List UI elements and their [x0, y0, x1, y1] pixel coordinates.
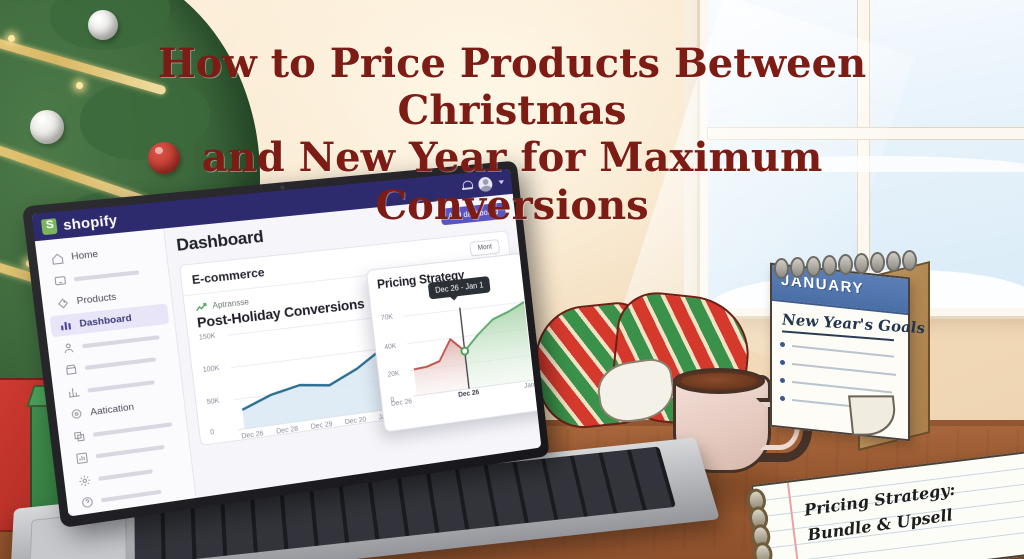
- sidebar-placeholder-bar: [95, 445, 164, 458]
- laptop: shopify Home: [16, 182, 716, 559]
- customers-icon: [61, 340, 75, 354]
- calendar-ring: [790, 257, 805, 278]
- y-tick-0: 0: [210, 429, 215, 437]
- dashboard-icon: [59, 318, 73, 332]
- calendar-page: JANUARY New Year's Goals: [770, 263, 910, 442]
- calendar-ring: [774, 258, 789, 279]
- discounts-icon: [72, 429, 86, 443]
- app-body: Home Products: [35, 194, 542, 517]
- main-content: Dashboard Add dashboard E-commerce Mont: [164, 194, 541, 498]
- x-tick: Dec 20: [345, 416, 367, 426]
- pricing-strategy-chart: 70K 40K 20K 0: [381, 297, 541, 416]
- calendar-ring: [886, 251, 901, 272]
- calendar-goal-line: [792, 363, 896, 375]
- sidebar-placeholder-bar: [82, 335, 160, 348]
- tag-icon: [56, 296, 70, 310]
- hero-headline: How to Price Products Between Christmas …: [0, 40, 1024, 229]
- orders-icon: [53, 274, 67, 288]
- x-tick: Dec 28: [276, 426, 299, 436]
- calendar-page-curl: [848, 395, 898, 435]
- headline-line-2: and New Year for Maximum Conversions: [62, 134, 962, 228]
- sidebar-placeholder-bar: [74, 270, 139, 281]
- x-tick: Dec 26: [241, 430, 264, 440]
- calendar-bullet: [780, 342, 785, 348]
- store-icon: [64, 363, 78, 377]
- notepad-margin-line: [787, 483, 801, 559]
- x-tick-end: Jan 1: [524, 381, 540, 390]
- analytics-icon: [67, 385, 81, 399]
- sidebar-placeholder-bar: [93, 422, 172, 437]
- calendar-ring: [822, 255, 837, 276]
- apps-icon: [69, 407, 83, 421]
- trend-up-icon: [195, 302, 208, 312]
- sidebar-placeholder-bar: [98, 469, 153, 481]
- sidebar-label-application: Aatication: [90, 401, 135, 418]
- desk-calendar: JANUARY New Year's Goals: [770, 262, 922, 434]
- calendar-ring: [838, 254, 853, 275]
- gear-icon: [78, 473, 92, 487]
- x-tick-mid: Dec 26: [458, 389, 480, 399]
- calendar-ring: [806, 256, 821, 277]
- sidebar-label-products: Products: [76, 291, 117, 307]
- ecommerce-card-title: E-commerce: [191, 265, 265, 287]
- y-tick-40k: 40K: [384, 343, 397, 351]
- sidebar-label-dashboard: Dashboard: [79, 312, 132, 329]
- reports-icon: [75, 451, 89, 465]
- home-icon: [50, 252, 64, 266]
- headline-line-1: How to Price Products Between Christmas: [62, 40, 962, 134]
- range-selector[interactable]: Mont: [470, 239, 501, 257]
- sidebar-placeholder-bar: [87, 380, 154, 392]
- sidebar-placeholder-bar: [85, 357, 156, 370]
- calendar-ring: [854, 253, 869, 274]
- calendar-ring: [902, 250, 917, 271]
- sidebar-label-home: Home: [71, 249, 99, 263]
- calendar-goal-line: [792, 345, 894, 357]
- pricing-strategy-card[interactable]: Pricing Strategy Dec 26 - Jan 1 70K 40K …: [366, 252, 542, 433]
- page-title: Dashboard: [175, 227, 264, 256]
- x-tick-start: Dec 26: [391, 398, 413, 408]
- calendar-bullet: [780, 396, 785, 402]
- help-icon: [80, 495, 94, 509]
- calendar-bullet: [780, 360, 785, 366]
- calendar-bullet: [780, 378, 785, 384]
- holiday-pricing-blog-hero: JANUARY New Year's Goals: [0, 0, 1024, 559]
- ornament-white: [88, 10, 118, 40]
- x-tick: Dec 29: [310, 421, 332, 431]
- calendar-goal-line: [792, 381, 892, 393]
- calendar-ring: [870, 252, 885, 273]
- y-tick-50k: 50K: [206, 398, 219, 407]
- sidebar-placeholder-bar: [101, 490, 162, 503]
- y-tick-100k: 100K: [202, 365, 219, 374]
- y-tick-20k: 20K: [387, 370, 400, 378]
- y-tick-70k: 70K: [381, 314, 394, 322]
- y-tick-150k: 150K: [199, 333, 216, 342]
